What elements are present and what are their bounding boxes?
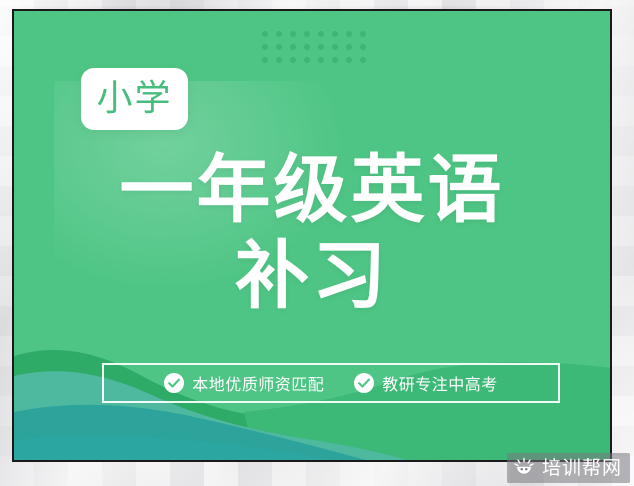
dot — [304, 44, 310, 50]
dot — [304, 57, 310, 63]
dot — [332, 31, 338, 37]
level-badge: 小学 — [81, 68, 188, 130]
dot — [290, 44, 296, 50]
dot — [360, 31, 366, 37]
dot — [332, 57, 338, 63]
headline-line-2: 补习 — [14, 233, 610, 319]
headline-line-1: 一年级英语 — [14, 147, 610, 233]
dot — [290, 31, 296, 37]
dot — [276, 44, 282, 50]
check-circle-icon — [354, 373, 374, 393]
check-circle-icon — [164, 373, 184, 393]
dot — [276, 57, 282, 63]
dot — [318, 57, 324, 63]
dot — [262, 57, 268, 63]
feature-label-2: 教研专注中高考 — [382, 371, 498, 395]
poster-card: 小学 一年级英语 补习 本地优质师资匹配 — [12, 9, 612, 462]
dot — [276, 31, 282, 37]
dot — [346, 44, 352, 50]
dot — [262, 44, 268, 50]
dot — [290, 57, 296, 63]
dot — [318, 44, 324, 50]
level-badge-label: 小学 — [96, 81, 172, 117]
dot-grid — [262, 31, 374, 70]
poster-card-inner: 小学 一年级英语 补习 本地优质师资匹配 — [14, 11, 610, 460]
dot — [360, 44, 366, 50]
dot — [318, 31, 324, 37]
sun-face-icon — [513, 457, 535, 479]
dot — [346, 31, 352, 37]
poster-screenshot: 小学 一年级英语 补习 本地优质师资匹配 — [0, 0, 634, 486]
feature-item-2: 教研专注中高考 — [354, 371, 498, 395]
dot — [304, 31, 310, 37]
watermark: 培训帮网 — [507, 453, 630, 483]
dot — [346, 57, 352, 63]
feature-bar: 本地优质师资匹配 教研专注中高考 — [102, 363, 560, 403]
feature-label-1: 本地优质师资匹配 — [192, 371, 324, 395]
watermark-text: 培训帮网 — [542, 459, 622, 478]
dot — [262, 31, 268, 37]
dot — [332, 44, 338, 50]
page-title: 一年级英语 补习 — [14, 147, 610, 319]
feature-item-1: 本地优质师资匹配 — [164, 371, 324, 395]
dot — [360, 57, 366, 63]
